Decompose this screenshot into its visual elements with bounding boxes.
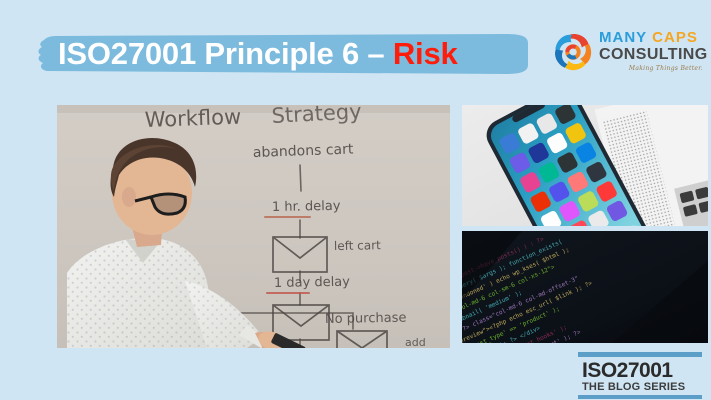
svg-text:add: add	[405, 336, 426, 348]
title-banner: ISO27001 Principle 6 – Risk	[36, 29, 530, 79]
brand-logo[interactable]: MANYCAPS CONSULTING Making Things Better…	[551, 27, 703, 79]
page-title-accent: Risk	[393, 36, 458, 71]
photo-source-code: <?php if ( $post->have_posts() ) : ?> $w…	[462, 231, 708, 343]
svg-text:Workflow: Workflow	[144, 105, 241, 132]
phone-illustration	[462, 105, 708, 226]
logo-tagline: Making Things Better.	[599, 64, 703, 73]
code-illustration: <?php if ( $post->have_posts() ) : ?> $w…	[462, 231, 708, 343]
logo-word-consulting: CONSULTING	[599, 46, 703, 64]
many-caps-knot-icon	[551, 30, 595, 74]
blog-series-badge: ISO27001 THE BLOG SERIES	[578, 352, 702, 392]
photo-phone-on-desk	[462, 105, 708, 226]
logo-word-caps: CAPS	[652, 29, 698, 46]
logo-line-one: MANYCAPS	[599, 29, 703, 46]
badge-rule-bottom	[578, 395, 702, 399]
photo-whiteboard: Workflow Strategy abandons cart 1 hr. de…	[57, 105, 450, 348]
badge-title: ISO27001	[578, 360, 702, 381]
page-title: ISO27001 Principle 6 – Risk	[58, 29, 458, 79]
svg-text:1 hr. delay: 1 hr. delay	[272, 199, 341, 215]
badge-subtitle: THE BLOG SERIES	[578, 381, 702, 393]
slide-canvas: ISO27001 Principle 6 – Risk	[0, 0, 711, 400]
whiteboard-illustration: Workflow Strategy abandons cart 1 hr. de…	[57, 105, 450, 348]
logo-wordmark: MANYCAPS CONSULTING Making Things Better…	[599, 29, 703, 73]
logo-word-many: MANY	[599, 29, 647, 46]
page-title-main: ISO27001 Principle 6 –	[58, 36, 393, 71]
svg-text:left cart: left cart	[334, 238, 381, 253]
badge-rule-top	[578, 352, 702, 357]
svg-text:1 day delay: 1 day delay	[274, 275, 351, 291]
